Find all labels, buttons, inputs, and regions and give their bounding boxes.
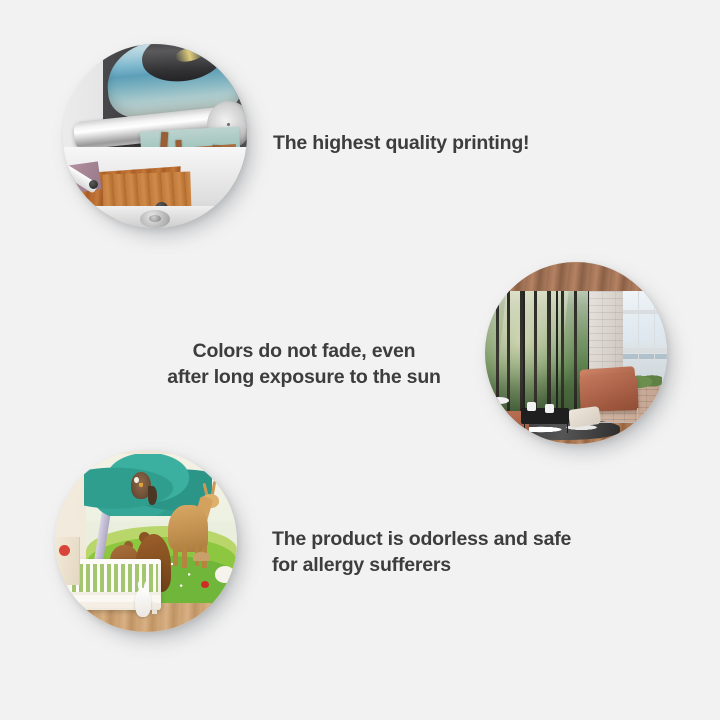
mural-tree-trunk [547,284,551,415]
owl-wing [148,486,157,504]
mural-tree-trunk [507,284,510,426]
printing-press-illustration [63,44,247,228]
mural-tree-trunk [574,284,577,411]
mural-panel-divider [556,284,558,426]
floor-cushion [568,406,601,428]
wooden-ceiling [485,262,667,291]
deer-leg [182,546,186,568]
nursery-shelf [55,537,80,584]
window-mullion [623,310,667,315]
cup [527,402,536,411]
feature-caption-colorfast: Colors do not fade, even after long expo… [150,339,458,390]
feature-caption-odorless-safe: The product is odorless and safe for all… [272,527,571,578]
feature-image-odorless-safe [55,450,237,632]
deer-leg [173,545,177,567]
window-mullion [623,348,667,353]
feature-caption-printing-quality: The highest quality printing! [273,131,529,157]
living-room-illustration [485,262,667,444]
mural-panel-divider [523,284,525,426]
mural-tree-trunk [496,284,499,411]
nursery-illustration [55,450,237,632]
mural-tree-trunk [561,284,564,426]
crib-top-rail [66,559,161,564]
shelf-toy [59,545,70,556]
mushroom-icon [193,552,209,561]
feature-collage: The highest quality printing! [0,0,720,720]
crib-leg [70,609,75,614]
bunny-icon [135,588,151,617]
side-table [489,397,509,404]
feature-image-printing-quality [63,44,247,228]
press-axle [140,210,169,228]
cup [545,404,554,413]
sheep-icon [215,566,235,582]
crib-leg [152,609,157,614]
ladybug-icon [201,581,209,588]
feature-image-colorfast [485,262,667,444]
